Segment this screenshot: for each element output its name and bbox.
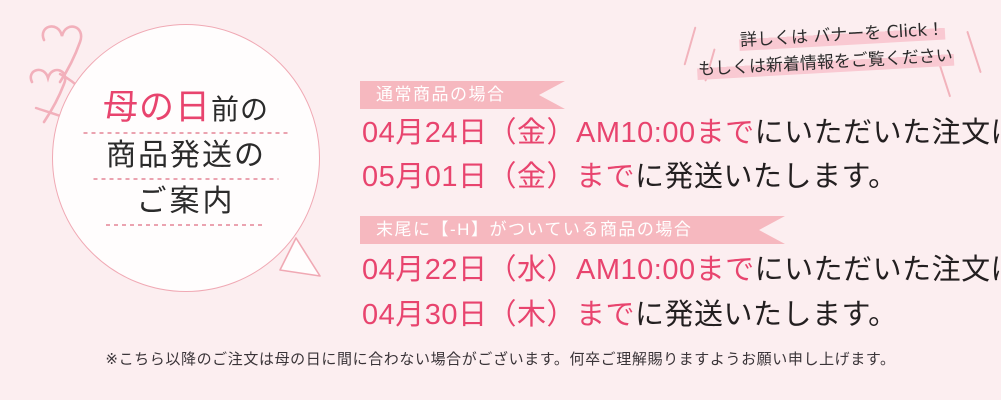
speech-bubble: 母の日前の 商品発送の ご案内 <box>52 24 352 324</box>
bubble-line-1-emphasis: 母の日 <box>103 88 211 127</box>
bubble-line-3: ご案内 <box>106 187 266 226</box>
ribbon-regular-products: 通常商品の場合 <box>360 81 565 109</box>
ribbon-notch-icon-1 <box>539 81 565 109</box>
shipping-date-3: 04月22日（水）AM10:00まで <box>362 254 755 286</box>
ribbon-h-suffix-products: 末尾に【-H】がついている商品の場合 <box>360 216 785 244</box>
shipping-line-1: 04月24日（金）AM10:00までにいただいた注文は <box>362 119 1001 148</box>
shipping-line-4: 04月30日（木）までに発送いたします。 <box>362 301 898 330</box>
shipping-tail-3: にいただいた注文は <box>755 254 1001 286</box>
bubble-line-1-rest: 前の <box>211 94 269 125</box>
shipping-tail-1: にいただいた注文は <box>755 117 1001 149</box>
bubble-line-2: 商品発送の <box>94 141 279 180</box>
shipping-line-3: 04月22日（水）AM10:00までにいただいた注文は <box>362 256 1001 285</box>
ribbon-notch-icon-2 <box>759 216 785 244</box>
shipping-date-4: 04月30日（木）まで <box>362 299 635 331</box>
shipping-date-2: 05月01日（金）まで <box>362 161 635 193</box>
shipping-tail-2: に発送いたします。 <box>635 161 898 193</box>
shipping-line-2: 05月01日（金）までに発送いたします。 <box>362 163 898 192</box>
bubble-text: 母の日前の 商品発送の ご案内 <box>52 24 320 292</box>
handwritten-note: 詳しくは バナーを Click！ もしくは新着情報をご覧ください <box>695 22 985 94</box>
note-line-2: もしくは新着情報をご覧ください <box>696 41 954 80</box>
slash-decoration-left-1 <box>684 26 697 65</box>
slash-decoration-right-2 <box>966 31 981 73</box>
bubble-line-1: 母の日前の <box>84 90 289 134</box>
shipping-tail-4: に発送いたします。 <box>635 299 898 331</box>
shipping-date-1: 04月24日（金）AM10:00まで <box>362 117 755 149</box>
disclaimer-text: ※こちら以降のご注文は母の日に間に合わない場合がございます。何卒ご理解賜りますよ… <box>0 348 1001 369</box>
mothers-day-shipping-banner: 母の日前の 商品発送の ご案内 詳しくは バナーを Click！ もしくは新着情… <box>0 0 1001 400</box>
ribbon-label-2: 末尾に【-H】がついている商品の場合 <box>376 220 692 239</box>
ribbon-label-1: 通常商品の場合 <box>376 85 506 104</box>
